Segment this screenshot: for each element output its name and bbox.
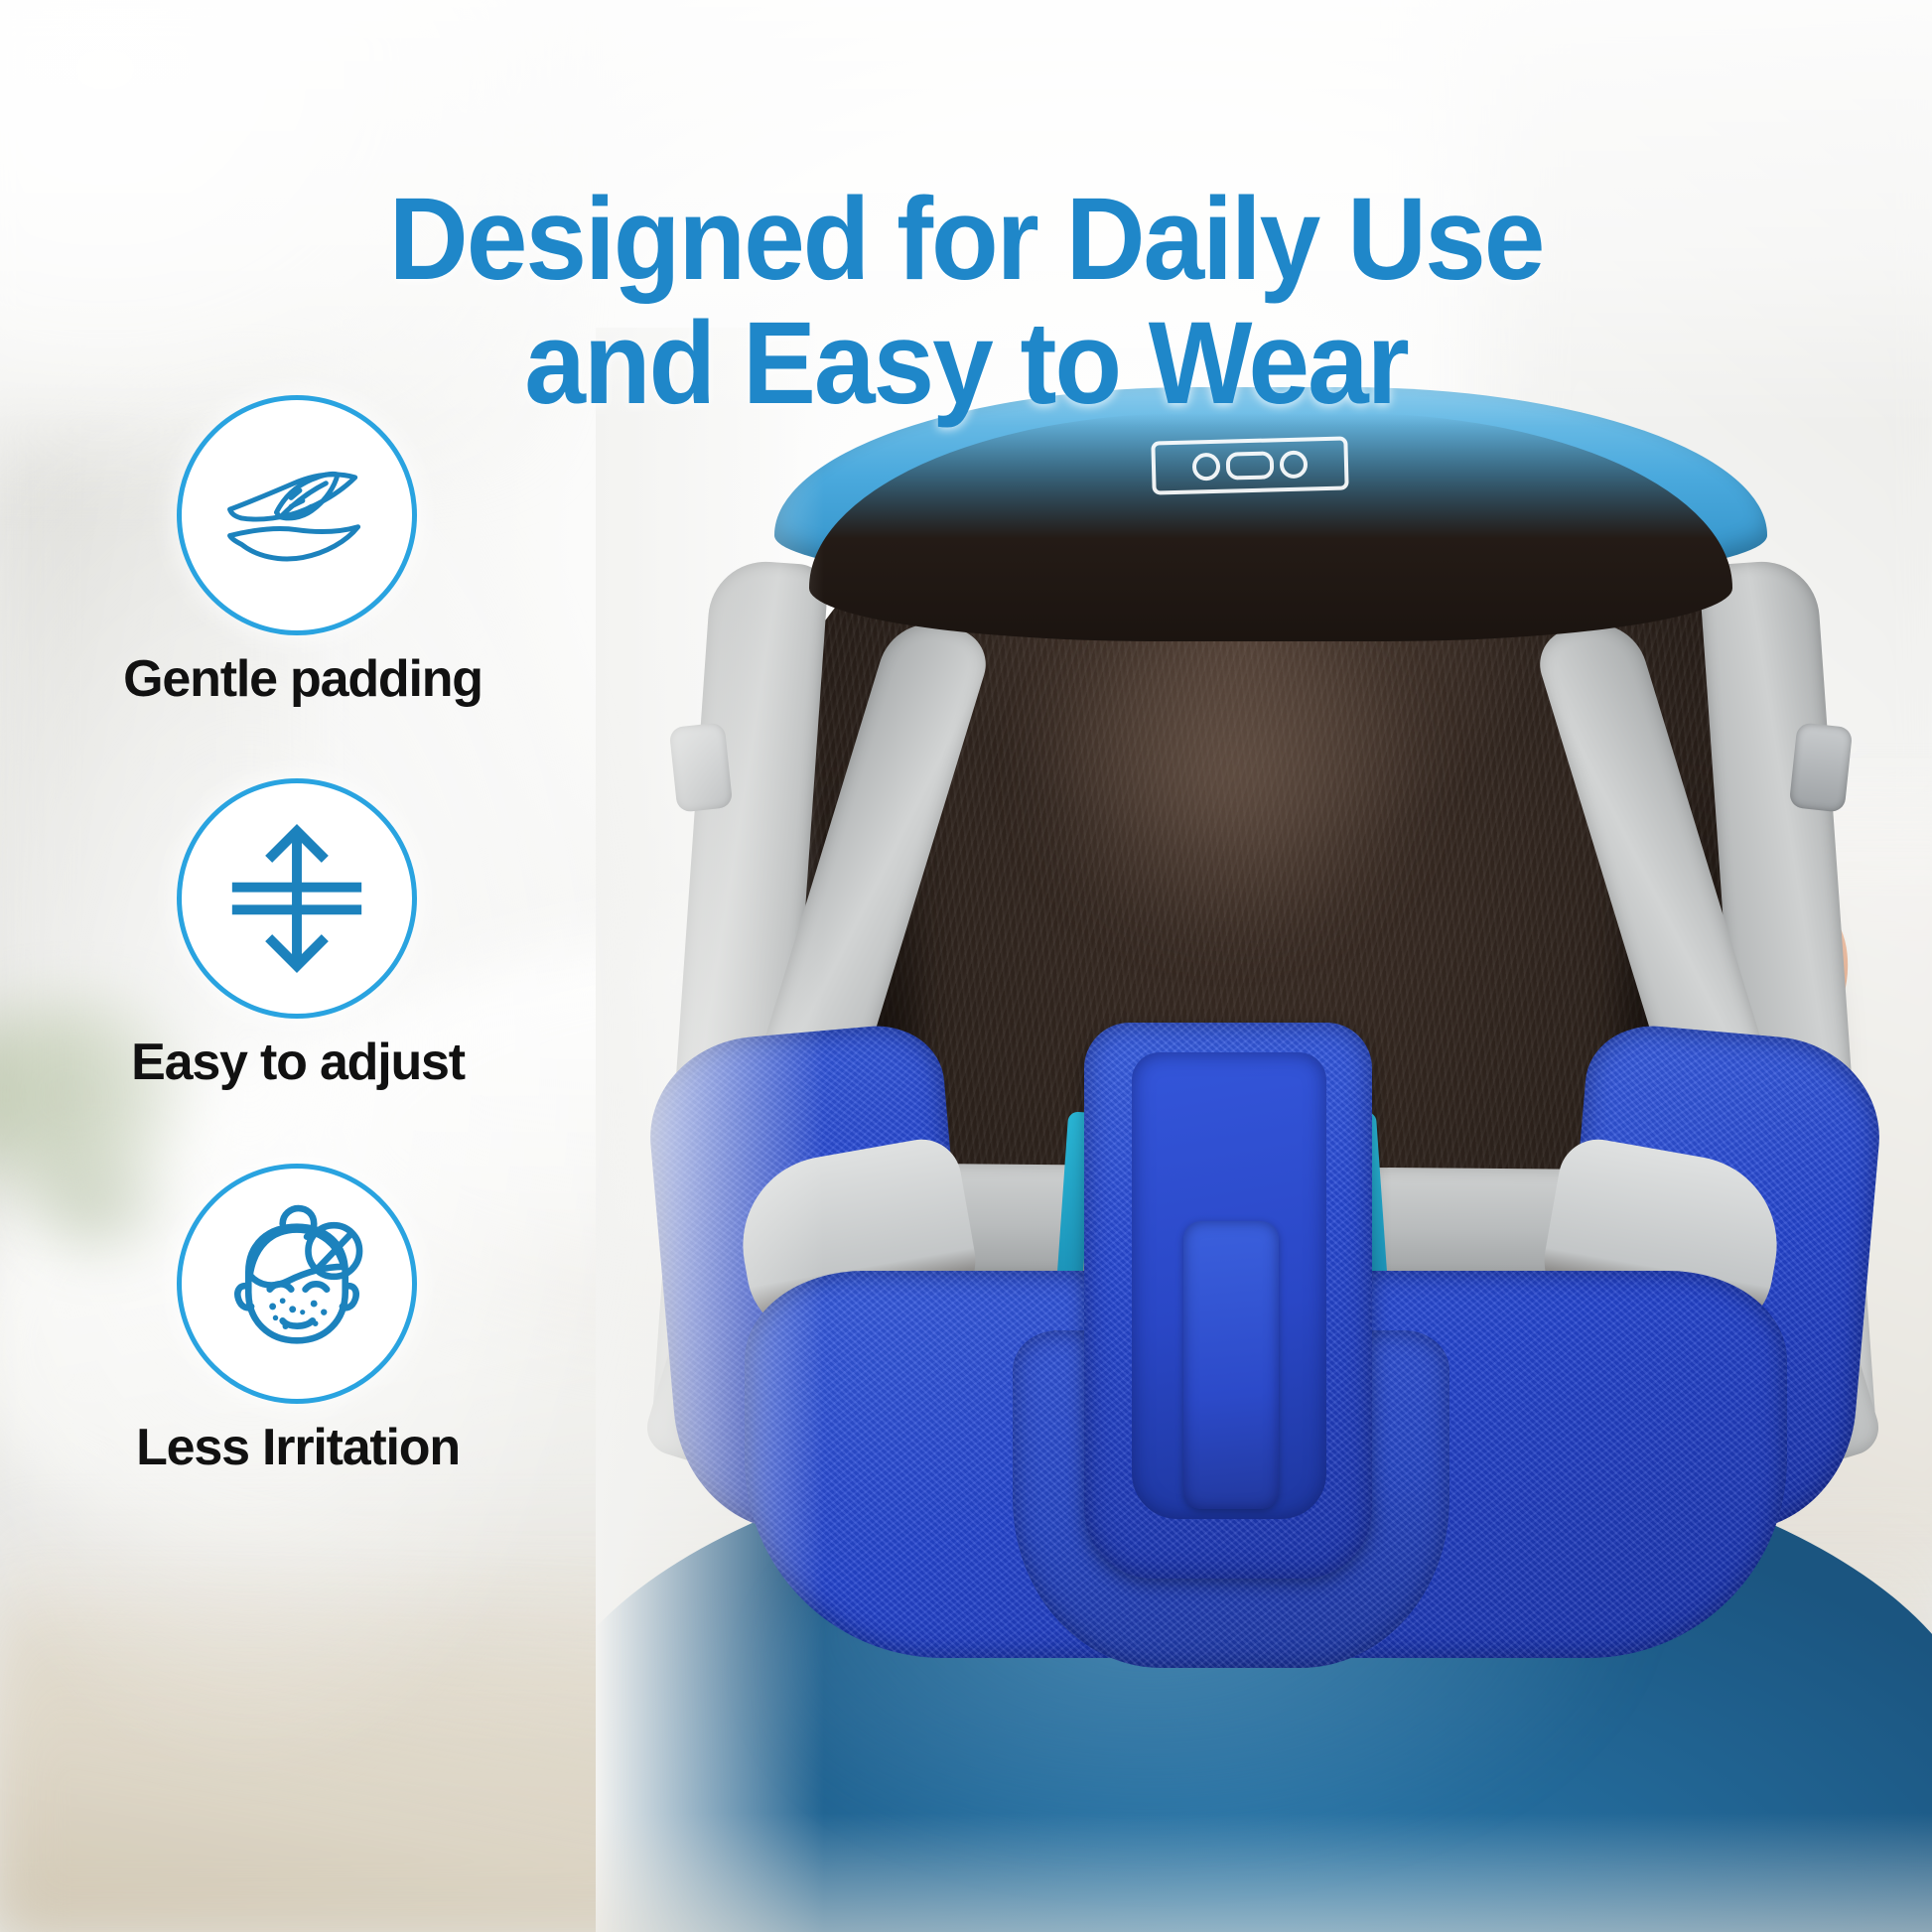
- logo-ring-right: [1280, 450, 1309, 479]
- vertical-double-arrow-adjust-icon: [212, 814, 381, 983]
- hair-crown-highlight: [1023, 625, 1440, 953]
- feature-item-gentle-padding: Gentle padding: [0, 395, 616, 709]
- feature-label-3: Less Irritation: [0, 1418, 606, 1477]
- feature-icon-circle-2: [177, 778, 417, 1019]
- logo-bar-center: [1226, 451, 1275, 480]
- feature-label-1: Gentle padding: [0, 649, 606, 709]
- feature-label-2: Easy to adjust: [0, 1033, 606, 1092]
- logo-ring-left: [1192, 453, 1221, 482]
- buckle-right: [1789, 722, 1854, 812]
- fleece-center-tab: [1183, 1221, 1279, 1509]
- photo-fade-bottom: [596, 1813, 1932, 1932]
- page-title: Designed for Daily Use and Easy to Wear: [58, 178, 1873, 426]
- headband-logo-badge: [1151, 436, 1348, 494]
- feature-list: Gentle padding Easy to adjust: [0, 395, 616, 1372]
- product-photo: [596, 328, 1932, 1932]
- headline-line-1: Designed for Daily Use: [389, 174, 1544, 305]
- feather-on-fabric-icon: [209, 428, 384, 603]
- marketing-image: Designed for Daily Use and Easy to Wear: [0, 0, 1932, 1932]
- feature-item-less-irritation: Less Irritation: [0, 1164, 616, 1477]
- feature-icon-circle-3: [177, 1164, 417, 1404]
- feature-item-easy-to-adjust: Easy to adjust: [0, 778, 616, 1092]
- feature-icon-circle-1: [177, 395, 417, 635]
- face-no-irritation-icon: [211, 1198, 382, 1369]
